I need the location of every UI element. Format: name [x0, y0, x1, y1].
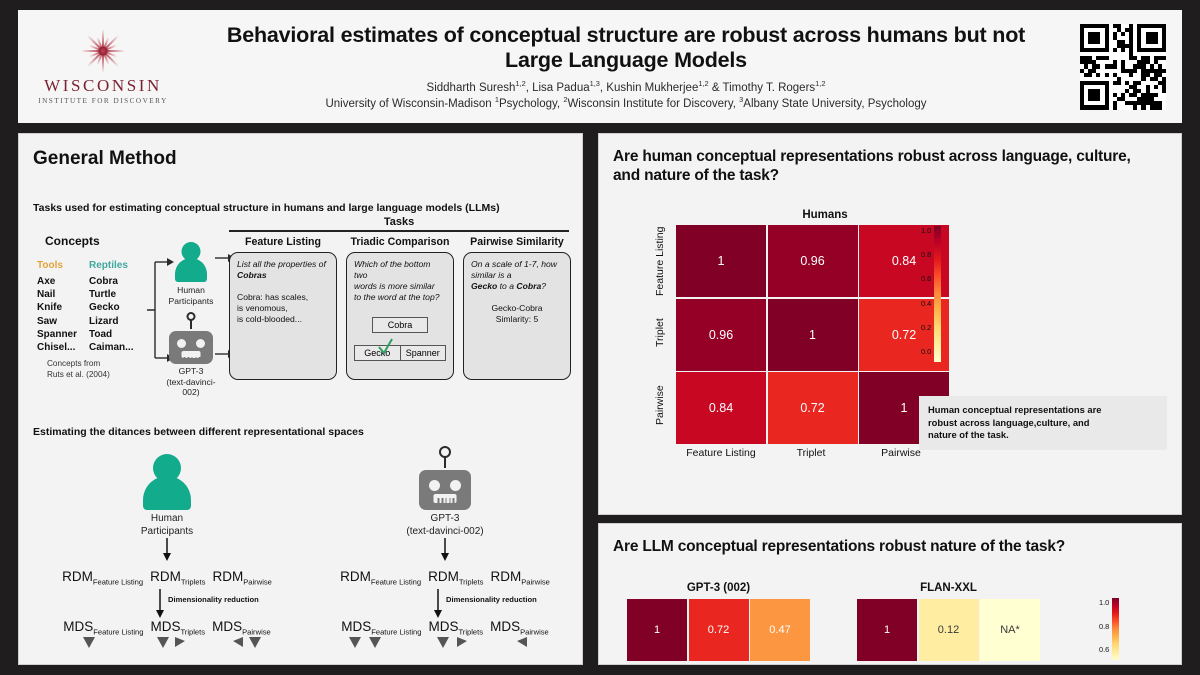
poster-title-line2: Large Language Models [192, 48, 1060, 73]
takeaway-line1: Human conceptual representations are [928, 404, 1158, 417]
concept-item: Saw [37, 315, 77, 328]
heatmap-cell: 0.72 [689, 599, 749, 661]
gpt3-label-line1: GPT-3 [161, 366, 221, 377]
heatmap-grid: 10.720.47 [627, 599, 810, 661]
heatmap-cell: 1 [676, 225, 766, 297]
mds-label: MDSPairwise [490, 619, 549, 637]
task-title: Feature Listing [229, 236, 337, 248]
colorbar-tick: 0.2 [921, 323, 931, 332]
task-prompt-line2: similar is a [471, 270, 563, 281]
heatmap-title: FLAN-XXL [857, 582, 1040, 594]
mds-label: MDSFeature Listing [341, 619, 421, 637]
task-column-triadic-comparison: Triadic Comparison Which of the bottom t… [346, 236, 454, 380]
gpt3-label-line2: (text-davinci-002) [161, 377, 221, 398]
qr-code-wrap[interactable] [1064, 24, 1182, 110]
concept-category-tools: Tools Axe Nail Knife Saw Spanner Chisel.… [37, 260, 77, 354]
dimensionality-reduction-label: Dimensionality reduction [446, 595, 537, 604]
poster-header: WISCONSIN INSTITUTE FOR DISCOVERY Behavi… [18, 10, 1182, 123]
concept-category-reptiles: Reptiles Cobra Turtle Gecko Lizard Toad … [89, 260, 133, 354]
concept-item: Gecko [89, 301, 133, 314]
human-label-line2: Participants [27, 526, 307, 539]
task-prompt-line1: On a scale of 1-7, how [471, 259, 563, 270]
category-label-tools: Tools [37, 260, 77, 271]
colorbar-tick: 0.6 [921, 274, 931, 283]
dimred-arrow [311, 587, 579, 619]
robot-icon [419, 454, 471, 510]
concept-item: Spanner [37, 328, 77, 341]
human-icon [174, 242, 208, 282]
heatmap-xlabel: Feature Listing [676, 447, 766, 459]
rdm-label: RDMPairwise [212, 569, 271, 587]
task-prompt-end: ? [541, 281, 546, 291]
task-prompt-line2: words is more similar [354, 281, 446, 292]
tasks-header: Tasks [229, 216, 569, 232]
panel-llm-question: Are LLM conceptual representations robus… [598, 523, 1182, 665]
concept-item: Axe [37, 275, 77, 288]
gpt3-heatmap: GPT-3 (002) 10.720.47 [627, 582, 810, 661]
heatmap-cell: 0.12 [919, 599, 979, 661]
task-title: Triadic Comparison [346, 236, 454, 248]
heatmap-ylabel: Triplet [654, 297, 676, 369]
heatmap-xlabel: Triplet [766, 447, 856, 459]
heatmap-cell: 0.96 [768, 225, 858, 297]
task-answer-line2: Simlarity: 5 [471, 314, 563, 325]
dimensionality-reduction-label: Dimensionality reduction [168, 595, 259, 604]
humans-colorbar: 1.0 0.8 0.6 0.4 0.2 0.0 [921, 226, 941, 362]
concept-item: Caiman... [89, 341, 133, 354]
heatmap-grid: 10.12NA* [857, 599, 1040, 661]
heatmap-ylabel: Pairwise [654, 369, 676, 441]
concept-item: Nail [37, 288, 77, 301]
heatmap-ylabel: Feature Listing [654, 225, 676, 297]
gpt3-label-line2: (text-davinci-002) [311, 526, 579, 539]
heatmap-cell: 0.96 [676, 299, 766, 371]
llm-question: Are LLM conceptual representations robus… [613, 538, 1169, 557]
colorbar-tick: 0.8 [1099, 622, 1109, 631]
humans-question-line2: and nature of the task? [613, 167, 1169, 186]
gpt3-agent: GPT-3 (text-davinci-002) [161, 318, 221, 398]
task-prompt-line1: List all the properties of [237, 259, 329, 270]
triad-top-word[interactable]: Cobra [372, 317, 428, 333]
flan-heatmap: FLAN-XXL 10.12NA* [857, 582, 1040, 661]
panel-general-method: General Method Tasks used for estimating… [18, 133, 583, 665]
concept-item: Chisel... [37, 341, 77, 354]
task-answer-line1: Cobra: has scales, [237, 292, 329, 303]
rdm-label: RDMFeature Listing [340, 569, 421, 587]
heatmap-cell: 0.72 [768, 372, 858, 444]
heatmap-cell: 1 [768, 299, 858, 371]
mds-label: MDSFeature Listing [63, 619, 143, 637]
task-prompt-bold: Cobras [237, 270, 329, 281]
distances-subheading: Estimating the ditances between differen… [33, 426, 364, 438]
heatmap-title: Humans [676, 209, 974, 221]
task-box: Which of the bottom two words is more si… [346, 252, 454, 380]
heatmap-cell: 1 [627, 599, 687, 661]
task-box: List all the properties of Cobras Cobra:… [229, 252, 337, 380]
wisconsin-logo: WISCONSIN INSTITUTE FOR DISCOVERY [18, 28, 188, 105]
task-prompt-line3: Gecko to a Cobra? [471, 281, 563, 292]
concept-item: Toad [89, 328, 133, 341]
section-heading-general-method: General Method [33, 148, 177, 170]
mds-label: MDSPairwise [212, 619, 271, 637]
logo-subtitle: INSTITUTE FOR DISCOVERY [38, 97, 168, 105]
task-prompt-bold-a: Gecko [471, 281, 497, 291]
heatmap-cell: 0.47 [750, 599, 810, 661]
affiliation-list: University of Wisconsin-Madison 1Psychol… [192, 95, 1060, 110]
qr-code[interactable] [1080, 24, 1166, 110]
heatmap-cell: NA* [980, 599, 1040, 661]
concepts-source-line1: Concepts from [47, 359, 145, 370]
poster-root: WISCONSIN INSTITUTE FOR DISCOVERY Behavi… [0, 0, 1200, 675]
title-block: Behavioral estimates of conceptual struc… [188, 23, 1064, 111]
concept-item: Cobra [89, 275, 133, 288]
category-label-reptiles: Reptiles [89, 260, 133, 271]
concepts-block: Concepts Tools Axe Nail Knife Saw Spanne… [37, 234, 145, 380]
colorbar-tick: 1.0 [921, 226, 931, 235]
concepts-source-line2: Ruts et al. (2004) [47, 370, 145, 381]
task-column-pairwise-similarity: Pairwise Similarity On a scale of 1-7, h… [463, 236, 571, 380]
humans-question-line1: Are human conceptual representations rob… [613, 148, 1169, 167]
human-agent: Human Participants [161, 242, 221, 306]
task-box: On a scale of 1-7, how similar is a Geck… [463, 252, 571, 380]
tasks-label: Tasks [229, 216, 569, 228]
colorbar-tick: 0.8 [921, 250, 931, 259]
rdm-label: RDMTriplets [428, 569, 483, 587]
concept-item: Turtle [89, 288, 133, 301]
task-answer-line3: is cold-blooded... [237, 314, 329, 325]
human-label-line1: Human [161, 285, 221, 296]
task-answer-line2: is venomous, [237, 303, 329, 314]
humans-question: Are human conceptual representations rob… [613, 148, 1169, 186]
task-prompt-mid: to a [497, 281, 516, 291]
robot-icon [169, 318, 213, 364]
human-label-line1: Human [27, 513, 307, 526]
task-prompt-line1: Which of the bottom two [354, 259, 446, 281]
mds-label: MDSTriplets [428, 619, 483, 637]
dimred-arrow [27, 587, 307, 619]
llm-colorbar: 1.0 0.8 0.6 [1099, 598, 1119, 660]
task-answer-line1: Gecko-Cobra [471, 303, 563, 314]
heatmap-cell: 1 [857, 599, 917, 661]
colorbar-gradient [934, 226, 941, 362]
panel-humans-question: Are human conceptual representations rob… [598, 133, 1182, 515]
rdm-label: RDMFeature Listing [62, 569, 143, 587]
colorbar-tick: 0.6 [1099, 645, 1109, 654]
takeaway-line2: robust across language,culture, and [928, 417, 1158, 430]
starburst-icon [80, 28, 126, 74]
human-pipeline: Human Participants RDMFeature Listing RD… [27, 454, 307, 658]
rdm-label: RDMPairwise [490, 569, 549, 587]
task-columns: Feature Listing List all the properties … [229, 236, 573, 380]
colorbar-gradient [1112, 598, 1119, 660]
heatmap-cell: 0.84 [676, 372, 766, 444]
human-icon [141, 454, 193, 510]
human-label-line2: Participants [161, 296, 221, 307]
gpt3-pipeline: GPT-3 (text-davinci-002) RDMFeature List… [311, 454, 579, 658]
concept-item: Lizard [89, 315, 133, 328]
pipeline-arrow-down [27, 538, 307, 562]
task-column-feature-listing: Feature Listing List all the properties … [229, 236, 337, 380]
task-prompt-bold-b: Cobra [516, 281, 541, 291]
logo-wordmark: WISCONSIN [44, 76, 162, 96]
poster-title-line1: Behavioral estimates of conceptual struc… [192, 23, 1060, 48]
author-list: Siddharth Suresh1,2, Lisa Padua1,3, Kush… [192, 79, 1060, 94]
gpt3-label-line1: GPT-3 [311, 513, 579, 526]
mds-comparison-arrows [27, 637, 307, 653]
concepts-title: Concepts [45, 234, 145, 248]
mds-comparison-arrows [311, 637, 579, 653]
tasks-subheading: Tasks used for estimating conceptual str… [33, 202, 500, 214]
humans-takeaway: Human conceptual representations are rob… [919, 396, 1167, 450]
heatmap-title: GPT-3 (002) [627, 582, 810, 594]
colorbar-tick: 1.0 [1099, 598, 1109, 607]
poster-title: Behavioral estimates of conceptual struc… [192, 23, 1060, 73]
concept-item: Knife [37, 301, 77, 314]
task-title: Pairwise Similarity [463, 236, 571, 248]
checkmark-icon [377, 337, 395, 357]
colorbar-tick: 0.4 [921, 299, 931, 308]
takeaway-line3: nature of the task. [928, 429, 1158, 442]
pipeline-arrow-down [311, 538, 579, 562]
task-prompt-line3: to the word at the top? [354, 292, 446, 303]
triad-right-word[interactable]: Spanner [400, 345, 447, 361]
mds-label: MDSTriplets [150, 619, 205, 637]
heatmap-grid: 10.960.840.9610.720.840.721 [676, 225, 949, 444]
colorbar-tick: 0.0 [921, 347, 931, 356]
rdm-label: RDMTriplets [150, 569, 205, 587]
